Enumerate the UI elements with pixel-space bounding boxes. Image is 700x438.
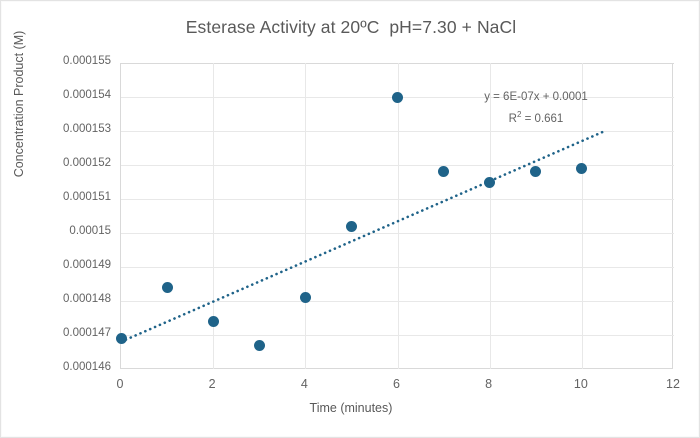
x-tick-label: 4: [279, 377, 329, 391]
x-tick-label: 0: [95, 377, 145, 391]
y-tick-label: 0.00015: [1, 225, 111, 237]
y-tick-label: 0.000148: [1, 293, 111, 305]
data-point: [116, 333, 127, 344]
x-axis-title: Time (minutes): [1, 401, 700, 415]
data-point: [530, 166, 541, 177]
y-axis-title: Concentration Product (M): [12, 4, 26, 204]
x-tick-label: 8: [464, 377, 514, 391]
data-point: [484, 177, 495, 188]
trendline-equation-annotation: y = 6E-07x + 0.0001 R2 = 0.661: [441, 89, 631, 128]
y-tick-label: 0.000154: [1, 89, 111, 101]
data-point: [208, 316, 219, 327]
data-point: [576, 163, 587, 174]
r-squared-label: R: [509, 113, 517, 125]
data-point: [162, 282, 173, 293]
x-tick-label: 12: [648, 377, 698, 391]
chart-title: Esterase Activity at 20ºC pH=7.30 + NaCl: [1, 17, 700, 38]
y-tick-label: 0.000147: [1, 327, 111, 339]
y-tick-label: 0.000153: [1, 123, 111, 135]
data-point: [438, 166, 449, 177]
plot-right-border: [672, 63, 673, 369]
y-tick-label: 0.000152: [1, 157, 111, 169]
r-squared-value: = 0.661: [521, 113, 563, 125]
gridline-vertical: [305, 63, 306, 369]
data-point: [392, 92, 403, 103]
x-tick-label: 2: [187, 377, 237, 391]
trendline-equation-line: y = 6E-07x + 0.0001: [441, 89, 631, 106]
data-point: [254, 340, 265, 351]
x-tick-label: 6: [372, 377, 422, 391]
y-tick-label: 0.000146: [1, 361, 111, 373]
data-point: [346, 221, 357, 232]
y-tick-label: 0.000155: [1, 55, 111, 67]
plot-area: y = 6E-07x + 0.0001 R2 = 0.661: [120, 63, 673, 369]
gridline-vertical: [398, 63, 399, 369]
x-tick-label: 10: [556, 377, 606, 391]
trendline-r-squared-line: R2 = 0.661: [441, 106, 631, 128]
y-tick-label: 0.000149: [1, 259, 111, 271]
data-point: [300, 292, 311, 303]
y-tick-label: 0.000151: [1, 191, 111, 203]
chart-container: Esterase Activity at 20ºC pH=7.30 + NaCl…: [0, 0, 700, 438]
